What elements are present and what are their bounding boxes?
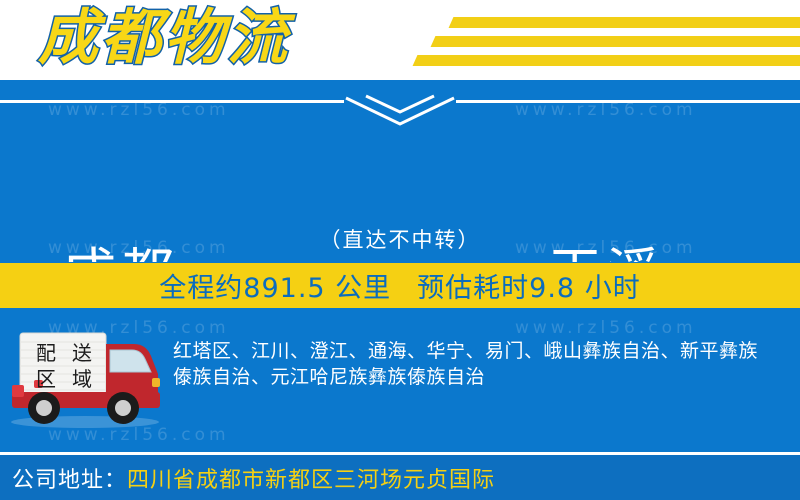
watermark: www.rzl56.com [515,318,697,338]
watermark: www.rzl56.com [515,100,697,120]
stripe-3 [413,55,800,66]
truck-label: 配 送 区 域 [28,340,100,392]
truck-label-char: 域 [72,369,92,389]
route-panel: www.rzl56.com www.rzl56.com www.rzl56.co… [0,80,800,262]
footer-bar: 公司地址： 四川省成都市新都区三河场元贞国际 [0,455,800,500]
banner-header: 成都物流 [0,0,800,80]
delivery-regions-text: 红塔区、江川、澄江、通海、华宁、易门、峨山彝族自治、新平彝族傣族自治、元江哈尼族… [173,338,773,390]
delivery-truck-icon: 配 送 区 域 [6,330,164,428]
stats-band: 全程约891.5 公里 预估耗时9.8 小时 [0,263,800,308]
page-title: 成都物流 [38,2,290,74]
divider-left [0,100,344,103]
truck-label-char: 送 [72,343,92,363]
truck-label-char: 区 [36,369,56,389]
route-note: （直达不中转） [0,224,800,254]
decorative-stripes [395,8,800,72]
truck-label-char: 配 [36,343,56,363]
stripe-2 [431,36,800,47]
logistics-banner: 成都物流 www.rzl56.com www.rzl56.com www.rzl… [0,0,800,500]
distance-text: 全程约891.5 公里 [159,266,391,305]
double-chevron-down-icon [344,94,456,126]
company-address-label: 公司地址： [12,462,127,494]
watermark: www.rzl56.com [48,100,230,120]
stripe-1 [449,17,800,28]
duration-text: 预估耗时9.8 小时 [417,266,641,305]
divider-right [456,100,800,103]
company-address-value: 四川省成都市新都区三河场元贞国际 [127,462,495,494]
